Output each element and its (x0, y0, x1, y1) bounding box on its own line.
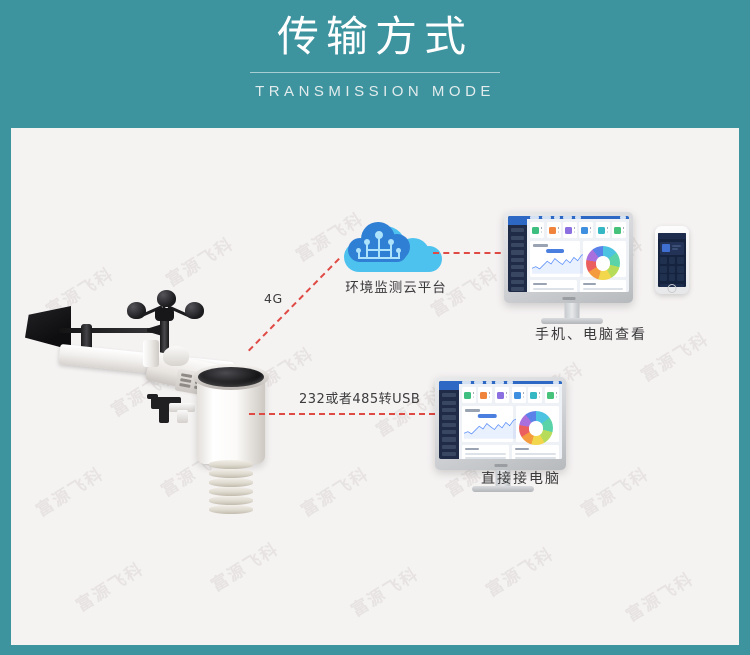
dashboard-body (527, 219, 629, 292)
sidebar-item[interactable] (442, 423, 456, 427)
phone-metric-grid[interactable] (660, 257, 684, 281)
stat-card-row (530, 222, 626, 238)
stat-card[interactable] (579, 222, 593, 238)
stat-card[interactable] (528, 387, 542, 403)
line-chart-panel[interactable] (462, 406, 513, 441)
stat-card-row (462, 387, 559, 403)
anemometer-hub (155, 308, 174, 321)
watermark: 富源飞科 (205, 535, 283, 596)
list-item[interactable] (465, 457, 506, 459)
weather-station-device (19, 288, 279, 498)
sidebar-logo (508, 216, 527, 225)
radiation-shield (209, 460, 253, 520)
anemometer-cup (127, 302, 146, 319)
line-chart (464, 417, 518, 439)
watermark: 富源飞科 (295, 460, 373, 521)
line-chart-panel[interactable] (530, 241, 580, 276)
phone-metric[interactable] (660, 274, 667, 281)
page-title: 传输方式 (0, 8, 750, 66)
diagram-stage: 富源飞科 富源飞科 富源飞科 富源飞科 富源飞科 富源飞科 富源飞科 富源飞科 … (11, 128, 739, 645)
phone-metric[interactable] (669, 266, 676, 273)
sidebar-item[interactable] (511, 287, 524, 291)
dashboard (439, 381, 562, 459)
list-item[interactable] (465, 453, 506, 455)
smartphone (655, 226, 689, 294)
connection-serial-line (249, 413, 445, 415)
stat-card[interactable] (547, 222, 561, 238)
caption-mobile-and-pc: 手机、电脑查看 (501, 324, 681, 344)
sidebar-item[interactable] (511, 228, 524, 232)
monitor-brand-logo (494, 464, 507, 467)
table-row (462, 445, 559, 460)
stat-card[interactable] (612, 222, 626, 238)
dashboard (508, 216, 629, 292)
sidebar-item[interactable] (511, 250, 524, 254)
sidebar-item[interactable] (442, 401, 456, 405)
connection-serial-label: 232或者485转USB (299, 388, 420, 407)
phone-metric[interactable] (677, 266, 684, 273)
sidebar-logo (439, 381, 459, 390)
watermark: 富源飞科 (70, 555, 148, 616)
phone-metric[interactable] (677, 274, 684, 281)
donut-chart (519, 411, 553, 445)
sidebar-item[interactable] (442, 452, 456, 456)
anemometer-cup (157, 290, 176, 307)
sidebar-item[interactable] (442, 393, 456, 397)
list-panel[interactable] (462, 445, 509, 460)
dashboard-sidebar[interactable] (508, 216, 527, 292)
dashboard-body (459, 384, 562, 459)
solar-radiation-dome (163, 346, 189, 366)
monitor-bezel (435, 377, 566, 470)
header-inner: 传输方式 TRANSMISSION MODE (0, 8, 750, 100)
stat-card[interactable] (462, 387, 476, 403)
sidebar-item[interactable] (511, 236, 524, 240)
sidebar-item[interactable] (511, 258, 524, 262)
stat-card[interactable] (495, 387, 509, 403)
caption-direct-pc: 直接接电脑 (431, 468, 611, 488)
sidebar-item[interactable] (442, 437, 456, 441)
phone-screen[interactable] (658, 233, 686, 287)
stat-card[interactable] (596, 222, 610, 238)
solar-sensor-cylinder (143, 340, 159, 367)
table-row-item[interactable] (515, 457, 556, 459)
watermark: 富源飞科 (480, 540, 558, 601)
stat-card[interactable] (478, 387, 492, 403)
page-subtitle: TRANSMISSION MODE (0, 83, 750, 100)
phone-statusbar (658, 233, 686, 239)
page-header: 传输方式 TRANSMISSION MODE (0, 0, 750, 128)
chart-row (462, 406, 559, 441)
sidebar-item[interactable] (442, 445, 456, 449)
sidebar-item[interactable] (442, 430, 456, 434)
chart-row (530, 241, 626, 276)
content-panel: 富源飞科 富源飞科 富源飞科 富源飞科 富源飞科 富源飞科 富源飞科 富源飞科 … (11, 128, 739, 645)
monitor-bezel (504, 212, 633, 303)
phone-metric[interactable] (660, 257, 667, 264)
table-row-item[interactable] (515, 453, 556, 455)
stat-card[interactable] (512, 387, 526, 403)
phone-profile-card[interactable] (660, 242, 684, 255)
line-chart (532, 252, 586, 274)
phone-metric[interactable] (669, 274, 676, 281)
phone-home-button[interactable] (668, 284, 677, 293)
phone-body (655, 226, 689, 294)
monitor-screen[interactable] (439, 381, 562, 459)
dashboard-sidebar[interactable] (439, 381, 459, 459)
monitor-screen[interactable] (508, 216, 629, 292)
list-panel[interactable] (530, 280, 576, 293)
title-divider (250, 72, 500, 73)
watermark: 富源飞科 (620, 565, 698, 626)
rain-gauge-funnel (198, 367, 264, 387)
donut-chart-panel[interactable] (583, 241, 626, 276)
table-row (530, 280, 626, 293)
sidebar-item[interactable] (442, 415, 456, 419)
sidebar-item[interactable] (511, 280, 524, 284)
cloud-platform-label: 环境监测云平台 (316, 276, 476, 296)
sidebar-item[interactable] (442, 408, 456, 412)
table-panel[interactable] (512, 445, 559, 460)
desktop-monitor-top (504, 212, 639, 327)
phone-metric[interactable] (660, 266, 667, 273)
dashboard-main (459, 381, 562, 459)
stat-card[interactable] (545, 387, 559, 403)
connection-4g-label: 4G (264, 291, 283, 306)
dashboard-main (527, 216, 629, 292)
monitor-brand-logo (562, 297, 575, 300)
list-item[interactable] (533, 288, 573, 290)
stat-card[interactable] (530, 222, 544, 238)
sidebar-item[interactable] (511, 265, 524, 269)
cloud-circuit-pattern (348, 222, 410, 264)
sidebar-item[interactable] (511, 272, 524, 276)
anemometer-cup (185, 302, 204, 319)
cloud-platform-icon (336, 216, 448, 278)
connection-cloud-to-pc-line (433, 252, 511, 254)
sidebar-item[interactable] (511, 243, 524, 247)
table-row-item[interactable] (583, 288, 623, 290)
phone-metric[interactable] (669, 257, 676, 264)
donut-chart (586, 246, 620, 280)
stat-card[interactable] (563, 222, 577, 238)
donut-chart-panel[interactable] (516, 406, 559, 441)
table-panel[interactable] (580, 280, 626, 293)
avatar (662, 244, 670, 252)
watermark: 富源飞科 (160, 230, 238, 291)
watermark: 富源飞科 (345, 560, 423, 621)
phone-metric[interactable] (677, 257, 684, 264)
